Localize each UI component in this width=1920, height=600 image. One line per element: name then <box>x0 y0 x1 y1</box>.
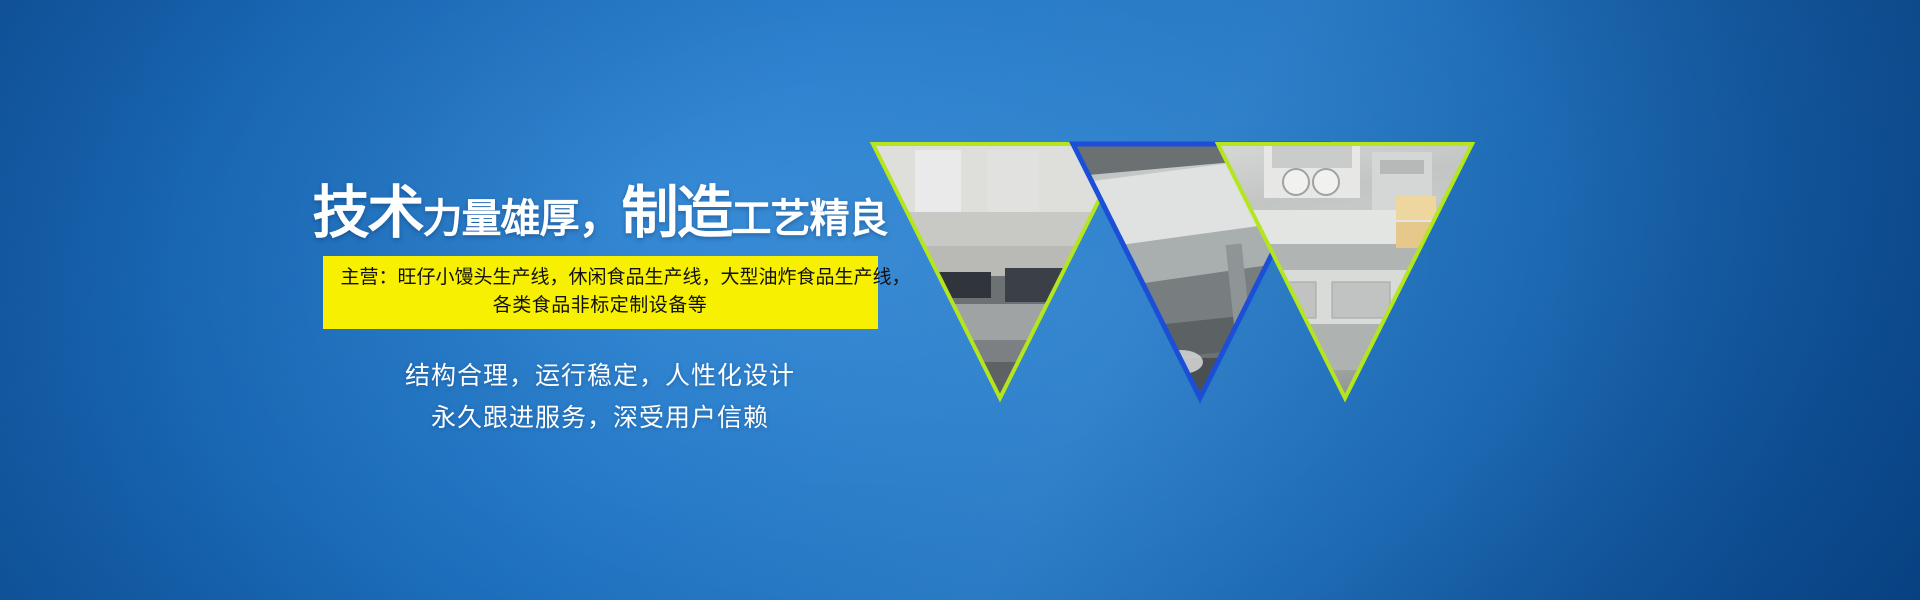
business-scope-line-1: 主营：旺仔小馒头生产线，休闲食品生产线，大型油炸食品生产线， <box>341 264 860 292</box>
headline-segment-strength: 力量雄厚 <box>423 197 579 241</box>
headline-segment-manufacture: 制造 <box>622 181 732 245</box>
tagline-line-1: 结构合理，运行稳定，人性化设计 <box>300 355 900 397</box>
business-scope-line-2: 各类食品非标定制设备等 <box>341 292 860 320</box>
headline-segment-technology: 技术 <box>313 181 423 245</box>
headline-comma: ， <box>579 193 622 242</box>
triangle-photo-gallery <box>845 118 1505 418</box>
triangle-photo-3 <box>1200 126 1490 416</box>
page-title: 技术力量雄厚，制造工艺精良 <box>300 185 900 242</box>
triangle-photo-3-image <box>1200 126 1490 416</box>
tagline-block: 结构合理，运行稳定，人性化设计 永久跟进服务，深受用户信赖 <box>300 355 900 439</box>
business-scope-banner: 主营：旺仔小馒头生产线，休闲食品生产线，大型油炸食品生产线， 各类食品非标定制设… <box>323 256 878 329</box>
hero-text-block: 技术力量雄厚，制造工艺精良 主营：旺仔小馒头生产线，休闲食品生产线，大型油炸食品… <box>300 185 900 439</box>
hero-banner: 技术力量雄厚，制造工艺精良 主营：旺仔小馒头生产线，休闲食品生产线，大型油炸食品… <box>0 0 1920 600</box>
tagline-line-2: 永久跟进服务，深受用户信赖 <box>300 397 900 439</box>
